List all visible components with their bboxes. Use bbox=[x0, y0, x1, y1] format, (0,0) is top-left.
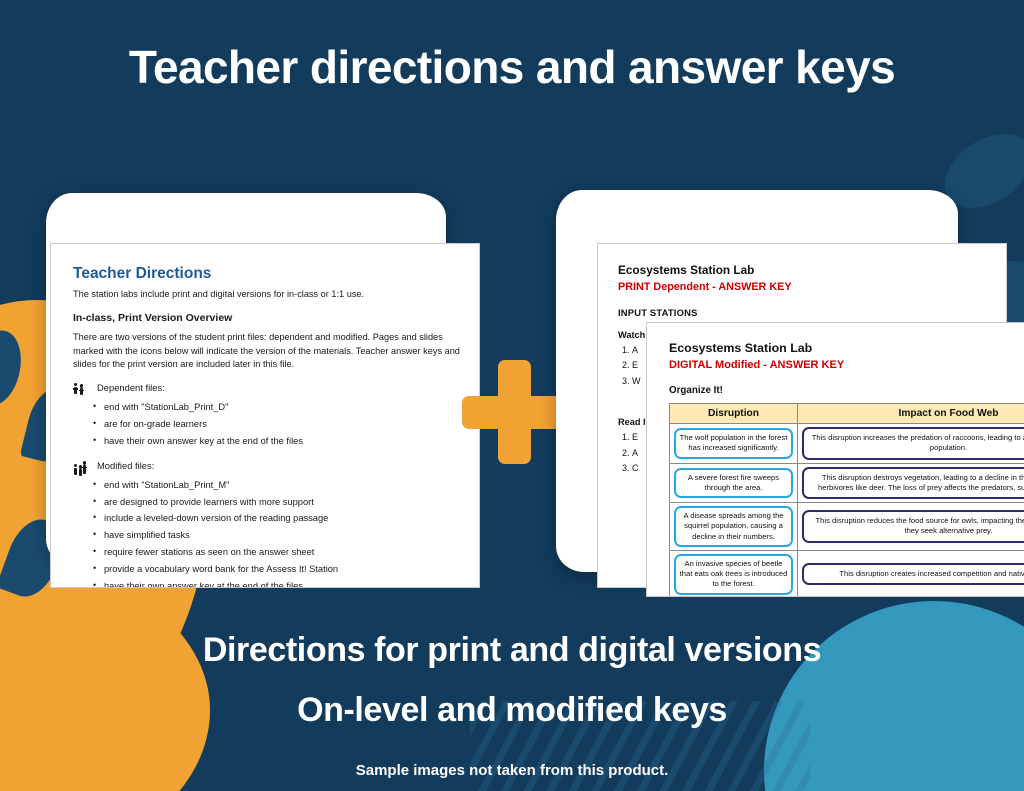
footer-line-1: Directions for print and digital version… bbox=[0, 631, 1024, 670]
footer-line-2: On-level and modified keys bbox=[0, 691, 1024, 730]
disruption-pill: A disease spreads among the squirrel pop… bbox=[674, 506, 793, 547]
list-item: are for on-grade learners bbox=[93, 416, 479, 433]
list-item-text: W bbox=[632, 376, 641, 386]
table-row: The wolf population in the forest has in… bbox=[670, 424, 1024, 464]
page-title: Teacher directions and answer keys bbox=[0, 40, 1024, 94]
teacher-directions-document: Teacher Directions The station labs incl… bbox=[50, 243, 480, 588]
column-header-impact: Impact on Food Web bbox=[798, 404, 1024, 424]
list-item: end with "StationLab_Print_D" bbox=[93, 399, 479, 416]
table-header-row: Disruption Impact on Food Web bbox=[670, 404, 1024, 424]
cell-impact: This disruption destroys vegetation, lea… bbox=[798, 463, 1024, 503]
print-version-overview-paragraph: There are two versions of the student pr… bbox=[73, 331, 469, 372]
answer-key-table: Disruption Impact on Food Web The wolf p… bbox=[669, 403, 1024, 597]
disruption-pill: An invasive species of beetle that eats … bbox=[674, 554, 793, 595]
document-title: Ecosystems Station Lab bbox=[669, 341, 1024, 355]
slide-canvas: Teacher directions and answer keys Teach… bbox=[0, 0, 1024, 791]
organize-it-heading: Organize It! bbox=[669, 385, 1024, 396]
impact-pill: This disruption reduces the food source … bbox=[802, 510, 1024, 543]
modified-files-bullets: end with "StationLab_Print_M" are design… bbox=[93, 477, 479, 588]
list-item: include a leveled-down version of the re… bbox=[93, 510, 479, 527]
cell-disruption: A severe forest fire sweeps through the … bbox=[670, 463, 798, 503]
table-row: A severe forest fire sweeps through the … bbox=[670, 463, 1024, 503]
table-row: An invasive species of beetle that eats … bbox=[670, 550, 1024, 597]
list-item: provide a vocabulary word bank for the A… bbox=[93, 561, 479, 578]
disruption-pill: The wolf population in the forest has in… bbox=[674, 428, 793, 459]
list-item: have their own answer key at the end of … bbox=[93, 433, 479, 450]
digital-modified-answer-key-document: Ecosystems Station Lab DIGITAL Modified … bbox=[646, 322, 1024, 597]
answer-key-badge: DIGITAL Modified - ANSWER KEY bbox=[669, 359, 1024, 371]
dependent-files-group: Dependent files: bbox=[73, 382, 479, 397]
cell-disruption: An invasive species of beetle that eats … bbox=[670, 550, 798, 597]
cell-impact: This disruption creates increased compet… bbox=[798, 550, 1024, 597]
list-item-text: E bbox=[632, 360, 638, 370]
list-item: are designed to provide learners with mo… bbox=[93, 494, 479, 511]
modified-files-label: Modified files: bbox=[97, 460, 154, 475]
modified-learners-icon bbox=[73, 461, 88, 475]
document-intro: The station labs include print and digit… bbox=[73, 288, 463, 301]
cell-disruption: A disease spreads among the squirrel pop… bbox=[670, 503, 798, 551]
input-stations-heading: INPUT STATIONS bbox=[618, 307, 1006, 318]
print-version-overview-heading: In-class, Print Version Overview bbox=[73, 312, 479, 324]
impact-pill: This disruption destroys vegetation, lea… bbox=[802, 467, 1024, 500]
plus-icon bbox=[462, 360, 566, 464]
footer-disclaimer: Sample images not taken from this produc… bbox=[0, 762, 1024, 779]
list-item-text: A bbox=[632, 345, 638, 355]
impact-pill: This disruption increases the predation … bbox=[802, 427, 1024, 460]
table-row: A disease spreads among the squirrel pop… bbox=[670, 503, 1024, 551]
cell-disruption: The wolf population in the forest has in… bbox=[670, 424, 798, 464]
list-item-text: E bbox=[632, 432, 638, 442]
answer-key-badge: PRINT Dependent - ANSWER KEY bbox=[618, 281, 1006, 293]
list-item: have simplified tasks bbox=[93, 527, 479, 544]
cell-impact: This disruption increases the predation … bbox=[798, 424, 1024, 464]
impact-pill: This disruption creates increased compet… bbox=[802, 563, 1024, 585]
dependent-files-label: Dependent files: bbox=[97, 382, 165, 397]
list-item-text: C bbox=[632, 463, 639, 473]
dependent-files-bullets: end with "StationLab_Print_D" are for on… bbox=[93, 399, 479, 450]
modified-files-group: Modified files: bbox=[73, 460, 479, 475]
document-title: Ecosystems Station Lab bbox=[618, 263, 1006, 277]
column-header-disruption: Disruption bbox=[670, 404, 798, 424]
disruption-pill: A severe forest fire sweeps through the … bbox=[674, 468, 793, 499]
list-item: require fewer stations as seen on the an… bbox=[93, 544, 479, 561]
dependent-learners-icon bbox=[73, 383, 88, 397]
teardrop-shape bbox=[0, 326, 27, 410]
list-item: have their own answer key at the end of … bbox=[93, 578, 479, 588]
list-item-text: A bbox=[632, 448, 638, 458]
orange-blob-shape-2 bbox=[0, 560, 210, 791]
cell-impact: This disruption reduces the food source … bbox=[798, 503, 1024, 551]
plus-icon-vertical-bar bbox=[498, 360, 531, 464]
document-heading: Teacher Directions bbox=[73, 265, 479, 283]
list-item: end with "StationLab_Print_M" bbox=[93, 477, 479, 494]
